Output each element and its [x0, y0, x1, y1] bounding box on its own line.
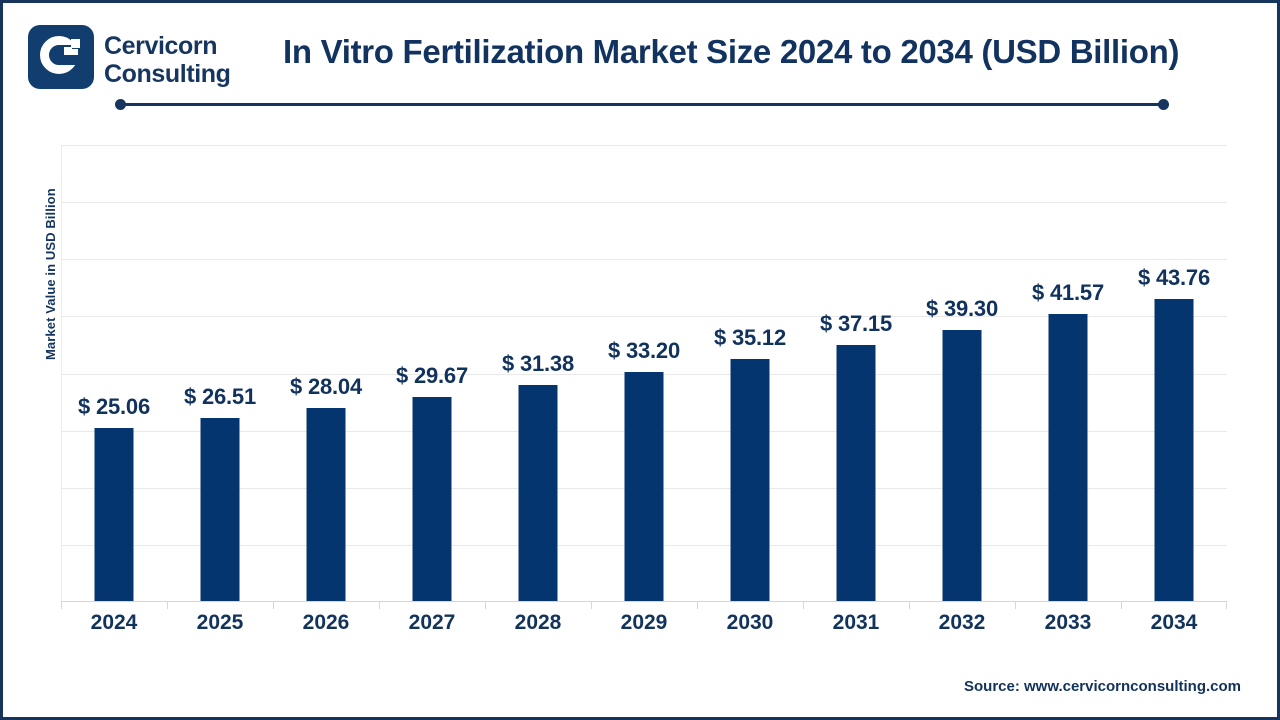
- plot-area: Market Value in USD Billion $ 25.06$ 26.…: [61, 145, 1227, 602]
- x-axis-label: 2031: [803, 611, 909, 635]
- x-axis-label: 2027: [379, 611, 485, 635]
- bar-group: $ 29.67: [379, 145, 485, 602]
- header: Cervicorn Consulting In Vitro Fertilizat…: [3, 3, 1280, 95]
- x-axis-tick: [485, 602, 486, 609]
- logo-pixel-square-2: [64, 47, 72, 55]
- bar-group: $ 35.12: [697, 145, 803, 602]
- bar[interactable]: [625, 372, 664, 602]
- bar-value-label: $ 28.04: [290, 374, 362, 400]
- divider-dot-right-icon: [1158, 99, 1169, 110]
- page-title: In Vitro Fertilization Market Size 2024 …: [283, 33, 1213, 71]
- bar-group: $ 25.06: [61, 145, 167, 602]
- x-axis-label: 2025: [167, 611, 273, 635]
- divider-dot-left-icon: [115, 99, 126, 110]
- bar-group: $ 37.15: [803, 145, 909, 602]
- bar-value-label: $ 35.12: [714, 325, 786, 351]
- bar-value-label: $ 31.38: [502, 351, 574, 377]
- bar[interactable]: [731, 359, 770, 602]
- x-axis-tick: [1015, 602, 1016, 609]
- bar-group: $ 31.38: [485, 145, 591, 602]
- x-axis-label: 2034: [1121, 611, 1227, 635]
- x-axis-label: 2033: [1015, 611, 1121, 635]
- x-axis-label: 2029: [591, 611, 697, 635]
- brand-name-line-2: Consulting: [104, 60, 231, 88]
- bar-value-label: $ 43.76: [1138, 265, 1210, 291]
- bar[interactable]: [943, 330, 982, 602]
- bar[interactable]: [1155, 299, 1194, 602]
- brand-wordmark: Cervicorn Consulting: [104, 32, 231, 88]
- x-axis-tick: [167, 602, 168, 609]
- bar-group: $ 41.57: [1015, 145, 1121, 602]
- bar-series: $ 25.06$ 26.51$ 28.04$ 29.67$ 31.38$ 33.…: [61, 145, 1227, 602]
- bar-group: $ 33.20: [591, 145, 697, 602]
- x-axis-label: 2030: [697, 611, 803, 635]
- x-axis-tick: [1121, 602, 1122, 609]
- brand-name-line-1: Cervicorn: [104, 32, 231, 60]
- bar-value-label: $ 37.15: [820, 311, 892, 337]
- x-axis-tick: [379, 602, 380, 609]
- x-axis-tick: [591, 602, 592, 609]
- logo-pixel-square-1: [71, 39, 80, 48]
- y-axis-title: Market Value in USD Billion: [43, 188, 58, 360]
- header-divider: [119, 103, 1165, 106]
- x-axis-tick: [697, 602, 698, 609]
- x-axis-tick: [273, 602, 274, 609]
- bar-group: $ 28.04: [273, 145, 379, 602]
- x-axis-tick: [803, 602, 804, 609]
- x-axis-label: 2032: [909, 611, 1015, 635]
- bar-group: $ 26.51: [167, 145, 273, 602]
- bar-value-label: $ 41.57: [1032, 280, 1104, 306]
- bar[interactable]: [837, 345, 876, 602]
- bar[interactable]: [413, 397, 452, 602]
- cervicorn-c-logo-icon: [28, 25, 94, 89]
- x-axis-line: [61, 601, 1227, 602]
- x-axis-tick: [1226, 602, 1227, 609]
- x-axis-tick: [909, 602, 910, 609]
- source-note: Source: www.cervicornconsulting.com: [964, 678, 1241, 695]
- bar[interactable]: [201, 418, 240, 602]
- bar-group: $ 39.30: [909, 145, 1015, 602]
- bar-value-label: $ 25.06: [78, 394, 150, 420]
- bar-group: $ 43.76: [1121, 145, 1227, 602]
- bar-value-label: $ 26.51: [184, 384, 256, 410]
- x-axis-label: 2028: [485, 611, 591, 635]
- bar[interactable]: [307, 408, 346, 602]
- x-axis-label: 2024: [61, 611, 167, 635]
- x-axis-label: 2026: [273, 611, 379, 635]
- logo-pixel-square-3: [72, 49, 78, 55]
- bar-value-label: $ 33.20: [608, 338, 680, 364]
- x-axis-labels: 2024202520262027202820292030203120322033…: [61, 611, 1227, 635]
- bar[interactable]: [519, 385, 558, 602]
- chart-infographic: Cervicorn Consulting In Vitro Fertilizat…: [0, 0, 1280, 720]
- bar-value-label: $ 39.30: [926, 296, 998, 322]
- bar[interactable]: [95, 428, 134, 602]
- bar-value-label: $ 29.67: [396, 363, 468, 389]
- bar[interactable]: [1049, 314, 1088, 602]
- x-axis-tick: [61, 602, 62, 609]
